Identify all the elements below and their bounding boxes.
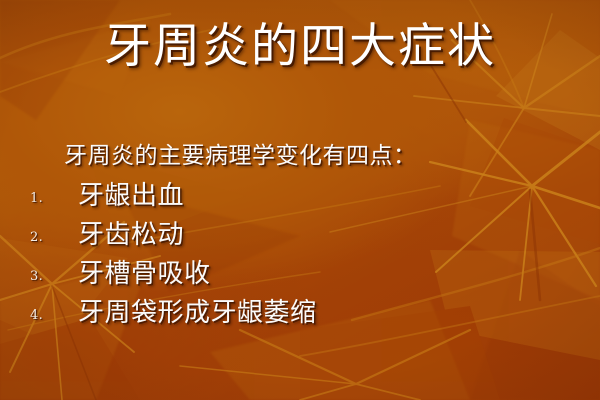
- list-item: 3. 牙槽骨吸收: [0, 255, 600, 294]
- list-item-number: 2.: [30, 216, 54, 259]
- list-item-label: 牙周袋形成牙龈萎缩: [78, 298, 317, 328]
- list-item-number: 4.: [30, 294, 54, 337]
- list-item: 2. 牙齿松动: [0, 216, 600, 255]
- list-item-label: 牙龈出血: [78, 181, 184, 211]
- list-item: 1. 牙龈出血: [0, 177, 600, 216]
- list-item-label: 牙齿松动: [78, 220, 184, 250]
- slide-body: 牙周炎的主要病理学变化有四点： 1. 牙龈出血 2. 牙齿松动 3. 牙槽骨吸收…: [0, 142, 600, 333]
- list-item-number: 1.: [30, 177, 54, 220]
- presentation-slide: 牙周炎的四大症状 牙周炎的主要病理学变化有四点： 1. 牙龈出血 2. 牙齿松动…: [0, 0, 600, 400]
- list-item-label: 牙槽骨吸收: [78, 259, 211, 289]
- slide-title: 牙周炎的四大症状: [0, 22, 600, 73]
- list-item: 4. 牙周袋形成牙龈萎缩: [0, 294, 600, 333]
- body-intro-line: 牙周炎的主要病理学变化有四点：: [0, 142, 600, 171]
- list-item-number: 3.: [30, 255, 54, 298]
- symptom-list: 1. 牙龈出血 2. 牙齿松动 3. 牙槽骨吸收 4. 牙周袋形成牙龈萎缩: [0, 177, 600, 333]
